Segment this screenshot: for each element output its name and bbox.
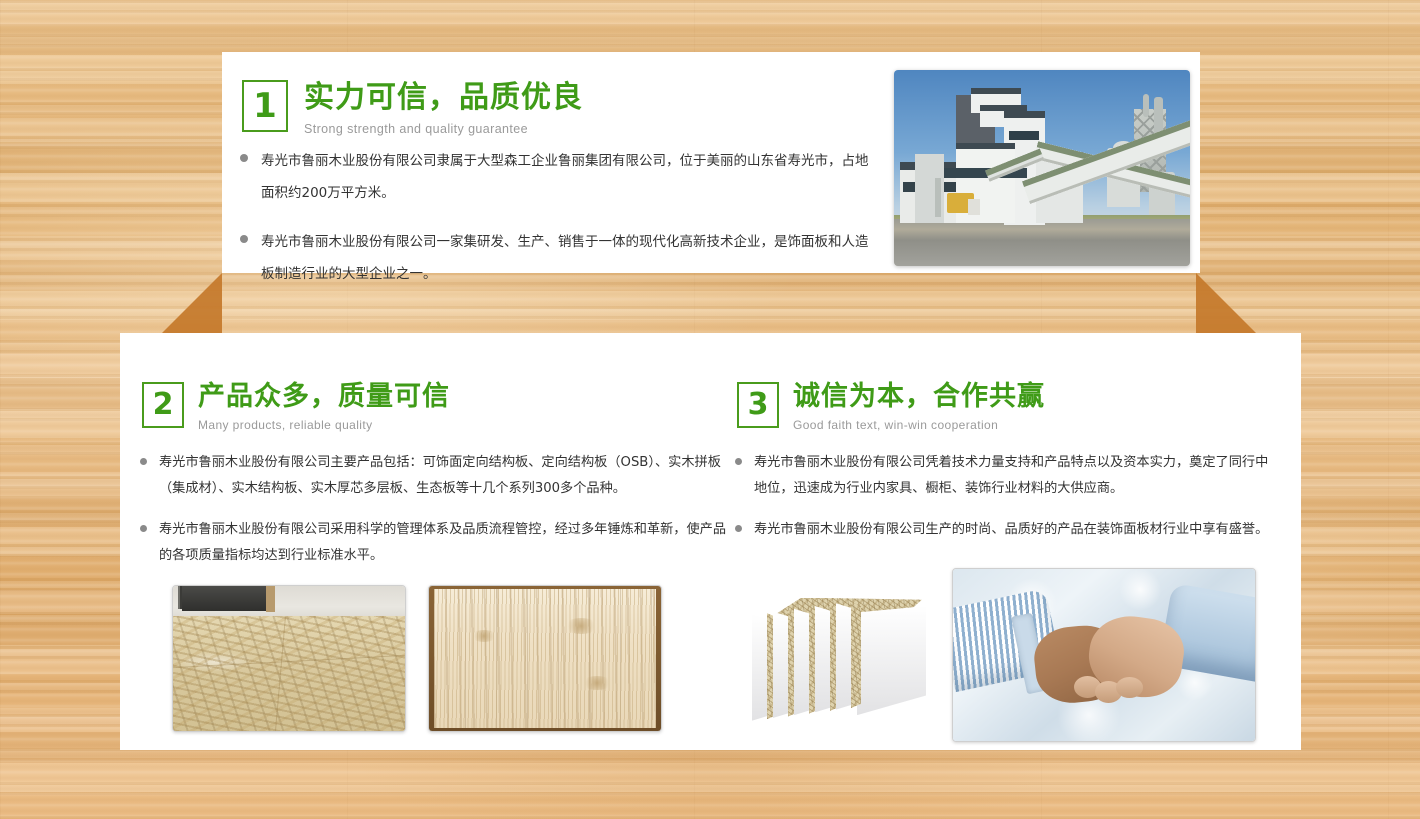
section-1-bullet-1: 寿光市鲁丽木业股份有限公司隶属于大型森工企业鲁丽集团有限公司，位于美丽的山东省寿… [261,146,871,209]
stacked-particleboard-photo [735,592,945,732]
section-2-heading: 2 产品众多，质量可信 Many products, reliable qual… [142,382,450,432]
section-2-title-en: Many products, reliable quality [198,418,450,432]
section-1-title-en: Strong strength and quality guarantee [304,122,583,136]
section-3-bullet-1-line-2: 地位，迅速成为行业内家具、橱柜、装饰行业材料的大供应商。 [754,481,1123,496]
bullet-dot-icon [240,154,248,162]
section-1-number-badge: 1 [242,80,288,132]
handshake-photo [952,568,1256,742]
section-3-bullet-1-line-1: 寿光市鲁丽木业股份有限公司凭着技术力量支持和产品特点以及资本实力，奠定了同行中 [754,455,1268,470]
list-item: 寿光市鲁丽木业股份有限公司采用科学的管理体系及品质流程管控，经过多年锤炼和革新，… [140,517,740,570]
bullet-dot-icon [735,525,742,532]
section-3-heading: 3 诚信为本，合作共赢 Good faith text, win-win coo… [737,382,1045,432]
bullet-dot-icon [140,458,147,465]
bullet-dot-icon [735,458,742,465]
section-2-bullet-2: 寿光市鲁丽木业股份有限公司采用科学的管理体系及品质流程管控，经过多年锤炼和革新，… [159,517,731,570]
section-2-number-badge: 2 [142,382,184,428]
section-3-bullet-2: 寿光市鲁丽木业股份有限公司生产的时尚、品质好的产品在装饰面板材行业中享有盛誉。 [754,517,1332,543]
ribbon-fold-left-icon [160,273,222,335]
section-1-title-cn: 实力可信，品质优良 [304,82,583,114]
section-1-bullet-2: 寿光市鲁丽木业股份有限公司一家集研发、生产、销售于一体的现代化高新技术企业，是饰… [261,227,871,290]
section-3-number-badge: 3 [737,382,779,428]
list-item: 寿光市鲁丽木业股份有限公司生产的时尚、品质好的产品在装饰面板材行业中享有盛誉。 [735,517,1335,543]
list-item: 寿光市鲁丽木业股份有限公司一家集研发、生产、销售于一体的现代化高新技术企业，是饰… [240,227,880,290]
list-item: 寿光市鲁丽木业股份有限公司主要产品包括：可饰面定向结构板、定向结构板（OSB）、… [140,450,740,503]
list-item: 寿光市鲁丽木业股份有限公司隶属于大型森工企业鲁丽集团有限公司，位于美丽的山东省寿… [240,146,880,209]
section-3-bullet-list: 寿光市鲁丽木业股份有限公司凭着技术力量支持和产品特点以及资本实力，奠定了同行中 … [735,450,1335,557]
section-2-bullet-1: 寿光市鲁丽木业股份有限公司主要产品包括：可饰面定向结构板、定向结构板（OSB）、… [159,450,731,503]
osb-floor-photo [172,585,406,732]
section-3-title-en: Good faith text, win-win cooperation [793,418,1045,432]
bullet-dot-icon [240,235,248,243]
section-2-bullet-list: 寿光市鲁丽木业股份有限公司主要产品包括：可饰面定向结构板、定向结构板（OSB）、… [140,450,740,584]
section-1-heading: 1 实力可信，品质优良 Strong strength and quality … [242,80,583,136]
solid-wood-panel-photo [428,585,662,732]
list-item: 寿光市鲁丽木业股份有限公司凭着技术力量支持和产品特点以及资本实力，奠定了同行中 … [735,450,1335,503]
bullet-dot-icon [140,525,147,532]
ribbon-fold-right-icon [1196,273,1258,335]
factory-exterior-photo [894,70,1190,266]
section-2-title-cn: 产品众多，质量可信 [198,383,450,411]
section-3-title-cn: 诚信为本，合作共赢 [793,383,1045,411]
section-1-bullet-list: 寿光市鲁丽木业股份有限公司隶属于大型森工企业鲁丽集团有限公司，位于美丽的山东省寿… [240,146,880,309]
